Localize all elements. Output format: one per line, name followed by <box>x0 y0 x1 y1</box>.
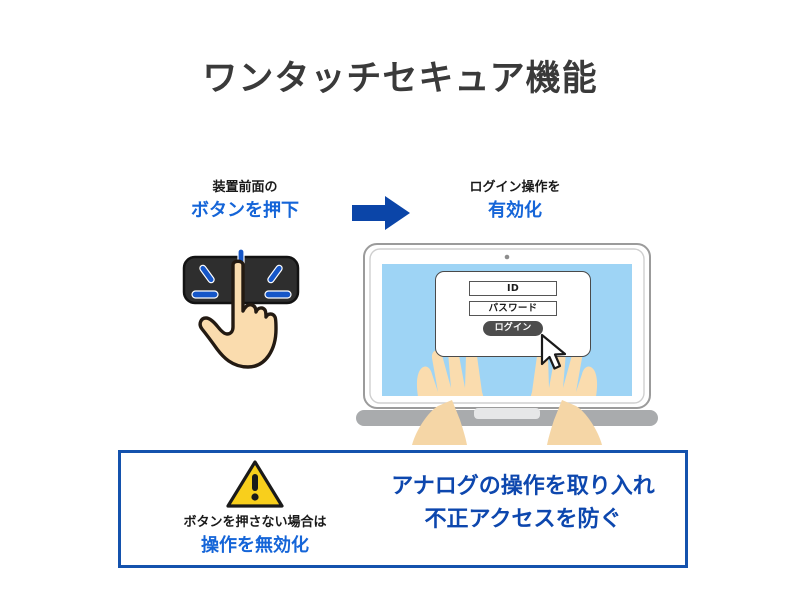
step-caption-press-button-bottom: ボタンを押下 <box>170 199 320 222</box>
step-caption-enable-login-top: ログイン操作を <box>440 180 590 197</box>
slide-canvas: ワンタッチセキュア機能 装置前面の ボタンを押下 ログイン操作を 有効化 <box>0 0 800 600</box>
webcam-icon <box>505 255 510 260</box>
step-caption-enable-login-bottom: 有効化 <box>440 199 590 222</box>
device-button-with-finger <box>170 245 320 395</box>
login-button[interactable]: ログイン <box>483 321 543 336</box>
warning-triangle-icon <box>226 459 284 509</box>
warning-text-top: ボタンを押さない場合は <box>183 515 326 532</box>
slogan-line-2: 不正アクセスを防ぐ <box>368 503 678 536</box>
step-caption-enable-login: ログイン操作を 有効化 <box>440 180 590 222</box>
id-field[interactable]: ID <box>469 281 557 296</box>
slogan-line-1: アナログの操作を取り入れ <box>368 470 678 503</box>
warning-text-bottom: 操作を無効化 <box>183 534 326 557</box>
password-field[interactable]: パスワード <box>469 301 557 316</box>
step-caption-press-button-top: 装置前面の <box>170 180 320 197</box>
right-arrow-icon <box>352 196 410 230</box>
slogan-text: アナログの操作を取り入れ 不正アクセスを防ぐ <box>368 470 678 537</box>
page-title: ワンタッチセキュア機能 <box>0 50 800 101</box>
mouse-pointer-icon <box>539 333 569 371</box>
step-caption-press-button: 装置前面の ボタンを押下 <box>170 180 320 222</box>
laptop-stand-notch <box>474 408 540 419</box>
warning-column: ボタンを押さない場合は 操作を無効化 <box>150 452 360 564</box>
warning-text: ボタンを押さない場合は 操作を無効化 <box>183 515 326 557</box>
